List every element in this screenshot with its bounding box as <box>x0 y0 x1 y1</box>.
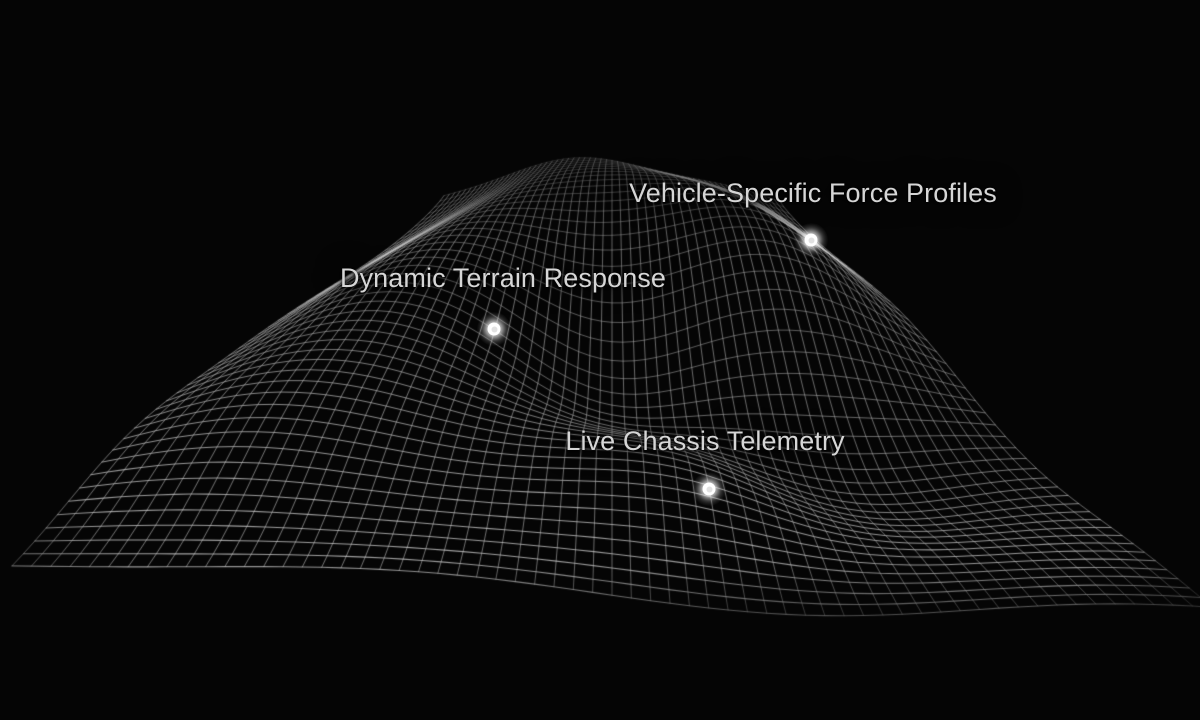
node-dot-icon <box>488 323 501 336</box>
node-marker-vehicle-specific-force-profiles[interactable] <box>794 223 828 257</box>
terrain-wireframe-mesh <box>0 0 1200 720</box>
node-dot-icon <box>703 483 716 496</box>
node-label-live-chassis-telemetry: Live Chassis Telemetry <box>565 426 844 457</box>
node-dot-icon <box>805 234 818 247</box>
node-label-vehicle-specific-force-profiles: Vehicle-Specific Force Profiles <box>629 178 997 209</box>
visualization-stage: Vehicle-Specific Force ProfilesDynamic T… <box>0 0 1200 720</box>
node-marker-live-chassis-telemetry[interactable] <box>692 472 726 506</box>
node-label-dynamic-terrain-response: Dynamic Terrain Response <box>340 263 666 294</box>
node-marker-dynamic-terrain-response[interactable] <box>477 312 511 346</box>
